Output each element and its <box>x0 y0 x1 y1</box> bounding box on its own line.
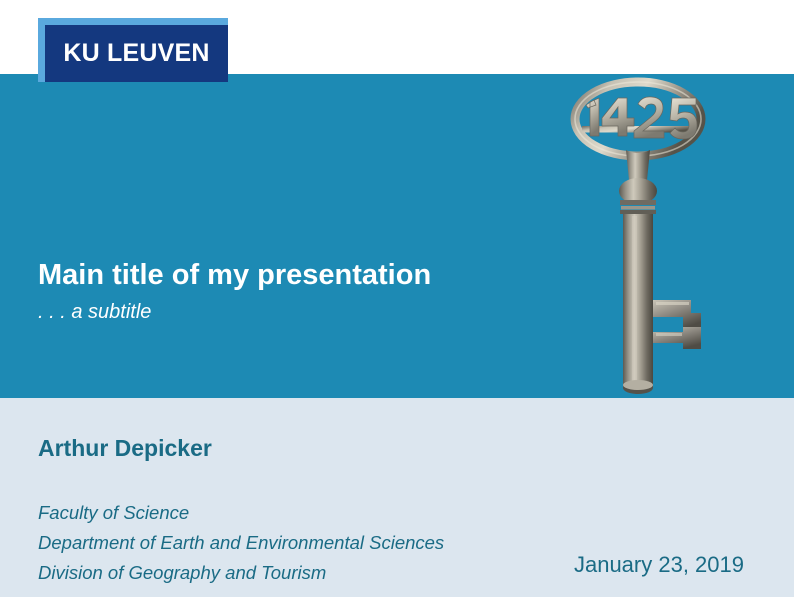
antique-key-photo <box>560 74 750 398</box>
page-title: Main title of my presentation <box>38 258 431 292</box>
page-subtitle: . . . a subtitle <box>38 300 431 324</box>
logo-box: KU LEUVEN <box>45 25 228 82</box>
presentation-title-slide: KU LEUVEN <box>0 0 794 597</box>
title-block: Main title of my presentation . . . a su… <box>38 258 431 324</box>
ku-leuven-logo: KU LEUVEN <box>38 18 228 82</box>
affiliation-block: Faculty of Science Department of Earth a… <box>38 498 444 588</box>
presentation-date: January 23, 2019 <box>574 552 744 578</box>
affiliation-line-division: Division of Geography and Tourism <box>38 558 444 588</box>
author-name: Arthur Depicker <box>38 435 212 463</box>
affiliation-line-faculty: Faculty of Science <box>38 498 444 528</box>
logo-wordmark: KU LEUVEN <box>63 41 209 66</box>
affiliation-line-department: Department of Earth and Environmental Sc… <box>38 528 444 558</box>
